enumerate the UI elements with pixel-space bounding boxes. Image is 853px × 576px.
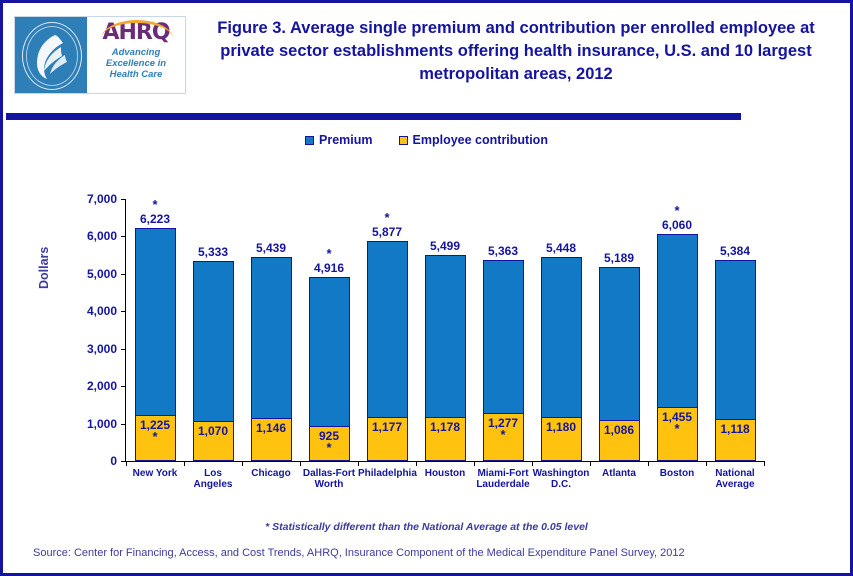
y-axis-tick-mark <box>121 386 126 387</box>
bar-contribution-value: 1,177 <box>372 421 402 434</box>
bar-segment-premium[interactable] <box>309 277 350 426</box>
bar-segment-employee-contribution[interactable]: 1,277* <box>483 413 524 461</box>
y-axis-tick-label: 2,000 <box>61 379 126 393</box>
bar-segment-employee-contribution[interactable]: 1,086 <box>599 420 640 461</box>
x-axis-tick-mark <box>648 461 649 466</box>
significance-star: * <box>674 424 679 434</box>
plot-area: 01,0002,0003,0004,0005,0006,0007,000*6,2… <box>125 199 764 462</box>
bar-total-label: 5,333 <box>198 245 228 261</box>
x-axis-tick-label: Los Angeles <box>184 468 242 490</box>
x-axis-tick-label: Atlanta <box>590 468 648 479</box>
bar-contribution-value: 1,146 <box>256 422 286 435</box>
y-axis-tick-mark <box>121 349 126 350</box>
bar-total-label: 5,384 <box>720 244 750 260</box>
bar-segment-employee-contribution[interactable]: 1,146 <box>251 418 292 461</box>
bar-total-label: 5,189 <box>604 251 634 267</box>
bar-group[interactable]: *4,916925* <box>309 277 350 461</box>
bar-segment-premium[interactable] <box>541 257 582 417</box>
bar-group[interactable]: *6,2231,225* <box>135 228 176 461</box>
x-axis-label-line: Miami-Fort <box>477 468 528 479</box>
bar-total-label: *4,916 <box>314 247 344 277</box>
x-axis-tick-mark <box>532 461 533 466</box>
bar-total-label: *6,060 <box>662 204 692 234</box>
x-axis-label-line: Philadelphia <box>358 468 417 479</box>
x-axis-tick-label: NationalAverage <box>706 468 764 490</box>
x-axis-tick-label: Houston <box>416 468 474 479</box>
bar-group[interactable]: *6,0601,455* <box>657 234 698 461</box>
bar-segment-premium[interactable] <box>367 241 408 417</box>
y-axis-tick-label: 0 <box>61 454 126 468</box>
bar-group[interactable]: 5,3841,118 <box>715 260 756 462</box>
bar-group[interactable]: 5,3331,070 <box>193 261 234 461</box>
x-axis-label-line: Lauderdale <box>476 479 529 490</box>
x-axis-tick-label: Boston <box>648 468 706 479</box>
figure-page: AHRQ Advancing Excellence in Health Care… <box>0 0 853 576</box>
y-axis-tick-mark <box>121 199 126 200</box>
bar-segment-employee-contribution[interactable]: 1,455* <box>657 407 698 461</box>
bar-total-value: 6,060 <box>662 218 692 232</box>
bar-group[interactable]: 5,4481,180 <box>541 257 582 461</box>
bar-total-value: 4,916 <box>314 261 344 275</box>
bar-contribution-value: 1,070 <box>198 425 228 438</box>
y-axis-tick-mark <box>121 274 126 275</box>
x-axis-tick-mark <box>300 461 301 466</box>
bar-total-label: *5,877 <box>372 211 402 241</box>
y-axis-tick-mark <box>121 311 126 312</box>
x-axis-tick-label: Philadelphia <box>358 468 416 479</box>
x-axis-label-line: National <box>715 468 754 479</box>
x-axis-label-line: D.C. <box>551 479 571 490</box>
bar-segment-premium[interactable] <box>251 257 292 418</box>
bar-segment-premium[interactable] <box>483 260 524 413</box>
x-axis-tick-label: WashingtonD.C. <box>532 468 590 490</box>
bar-segment-premium[interactable] <box>657 234 698 406</box>
bar-segment-premium[interactable] <box>193 261 234 421</box>
y-axis-tick-mark <box>121 236 126 237</box>
x-axis-tick-mark <box>590 461 591 466</box>
x-axis-label-line: Houston <box>425 468 466 479</box>
bar-total-label: 5,448 <box>546 241 576 257</box>
bar-group[interactable]: *5,8771,177 <box>367 241 408 461</box>
x-axis-tick-label: Chicago <box>242 468 300 479</box>
x-axis-tick-label: New York <box>126 468 184 479</box>
bar-contribution-value: 1,178 <box>430 421 460 434</box>
y-axis-tick-label: 5,000 <box>61 267 126 281</box>
chart-area: Dollars 01,0002,0003,0004,0005,0006,0007… <box>3 3 850 573</box>
y-axis-tick-label: 6,000 <box>61 229 126 243</box>
bar-segment-employee-contribution[interactable]: 1,177 <box>367 417 408 461</box>
bar-segment-employee-contribution[interactable]: 1,070 <box>193 421 234 461</box>
significance-star: * <box>140 198 170 212</box>
bar-total-value: 5,448 <box>546 241 576 255</box>
bar-contribution-value: 1,118 <box>720 423 749 436</box>
x-axis-label-line: New York <box>133 468 178 479</box>
bar-segment-premium[interactable] <box>715 260 756 420</box>
x-axis-tick-mark <box>242 461 243 466</box>
bar-segment-employee-contribution[interactable]: 1,180 <box>541 417 582 461</box>
bar-segment-employee-contribution[interactable]: 1,118 <box>715 419 756 461</box>
bar-total-value: 5,439 <box>256 241 286 255</box>
significance-star: * <box>326 443 331 453</box>
bar-group[interactable]: 5,4391,146 <box>251 257 292 461</box>
bar-total-value: 5,499 <box>430 239 460 253</box>
x-axis-tick-label: Dallas-FortWorth <box>300 468 358 490</box>
x-axis-label-line: Atlanta <box>602 468 636 479</box>
bar-total-value: 5,877 <box>372 225 402 239</box>
x-axis-label-line: Worth <box>315 479 344 490</box>
x-axis-label-line: Chicago <box>251 468 290 479</box>
x-axis-label-line: Average <box>715 479 754 490</box>
bar-segment-employee-contribution[interactable]: 1,225* <box>135 415 176 461</box>
bar-total-value: 5,363 <box>488 244 518 258</box>
y-axis-tick-label: 1,000 <box>61 417 126 431</box>
bar-total-value: 6,223 <box>140 212 170 226</box>
source-note: Source: Center for Financing, Access, an… <box>33 547 833 559</box>
y-axis-label: Dollars <box>37 267 51 289</box>
bar-total-label: *6,223 <box>140 198 170 228</box>
significance-star: * <box>152 432 157 442</box>
bar-contribution-value: 1,086 <box>604 424 634 437</box>
bar-total-label: 5,499 <box>430 239 460 255</box>
significance-footnote: * Statistically different than the Natio… <box>3 521 850 533</box>
y-axis-tick-label: 7,000 <box>61 192 126 206</box>
x-axis-tick-mark <box>474 461 475 466</box>
bar-total-value: 5,189 <box>604 251 634 265</box>
significance-star: * <box>500 430 505 440</box>
bar-total-label: 5,363 <box>488 244 518 260</box>
significance-star: * <box>662 204 692 218</box>
x-axis-tick-mark <box>126 461 127 466</box>
bar-segment-employee-contribution[interactable]: 925* <box>309 426 350 461</box>
bar-total-value: 5,333 <box>198 245 228 259</box>
bar-group[interactable]: 5,1891,086 <box>599 267 640 461</box>
bar-segment-premium[interactable] <box>599 267 640 421</box>
bar-contribution-value: 1,180 <box>546 421 576 434</box>
bar-group[interactable]: 5,4991,178 <box>425 255 466 461</box>
significance-star: * <box>372 211 402 225</box>
x-axis-tick-mark <box>416 461 417 466</box>
y-axis-tick-label: 4,000 <box>61 304 126 318</box>
x-axis-tick-mark <box>358 461 359 466</box>
bar-group[interactable]: 5,3631,277* <box>483 260 524 461</box>
x-axis-tick-mark <box>184 461 185 466</box>
x-axis-label-line: Boston <box>660 468 694 479</box>
x-axis-label-line: Dallas-Fort <box>303 468 355 479</box>
x-axis-tick-label: Miami-FortLauderdale <box>474 468 532 490</box>
x-axis-tick-mark <box>764 461 765 466</box>
bar-segment-premium[interactable] <box>425 255 466 417</box>
x-axis-label-line: Los Angeles <box>194 468 233 490</box>
x-axis-tick-mark <box>706 461 707 466</box>
bar-total-value: 5,384 <box>720 244 750 258</box>
bar-segment-premium[interactable] <box>135 228 176 415</box>
y-axis-tick-label: 3,000 <box>61 342 126 356</box>
y-axis-tick-mark <box>121 424 126 425</box>
bar-total-label: 5,439 <box>256 241 286 257</box>
significance-star: * <box>314 247 344 261</box>
x-axis-label-line: Washington <box>533 468 590 479</box>
bar-segment-employee-contribution[interactable]: 1,178 <box>425 417 466 461</box>
